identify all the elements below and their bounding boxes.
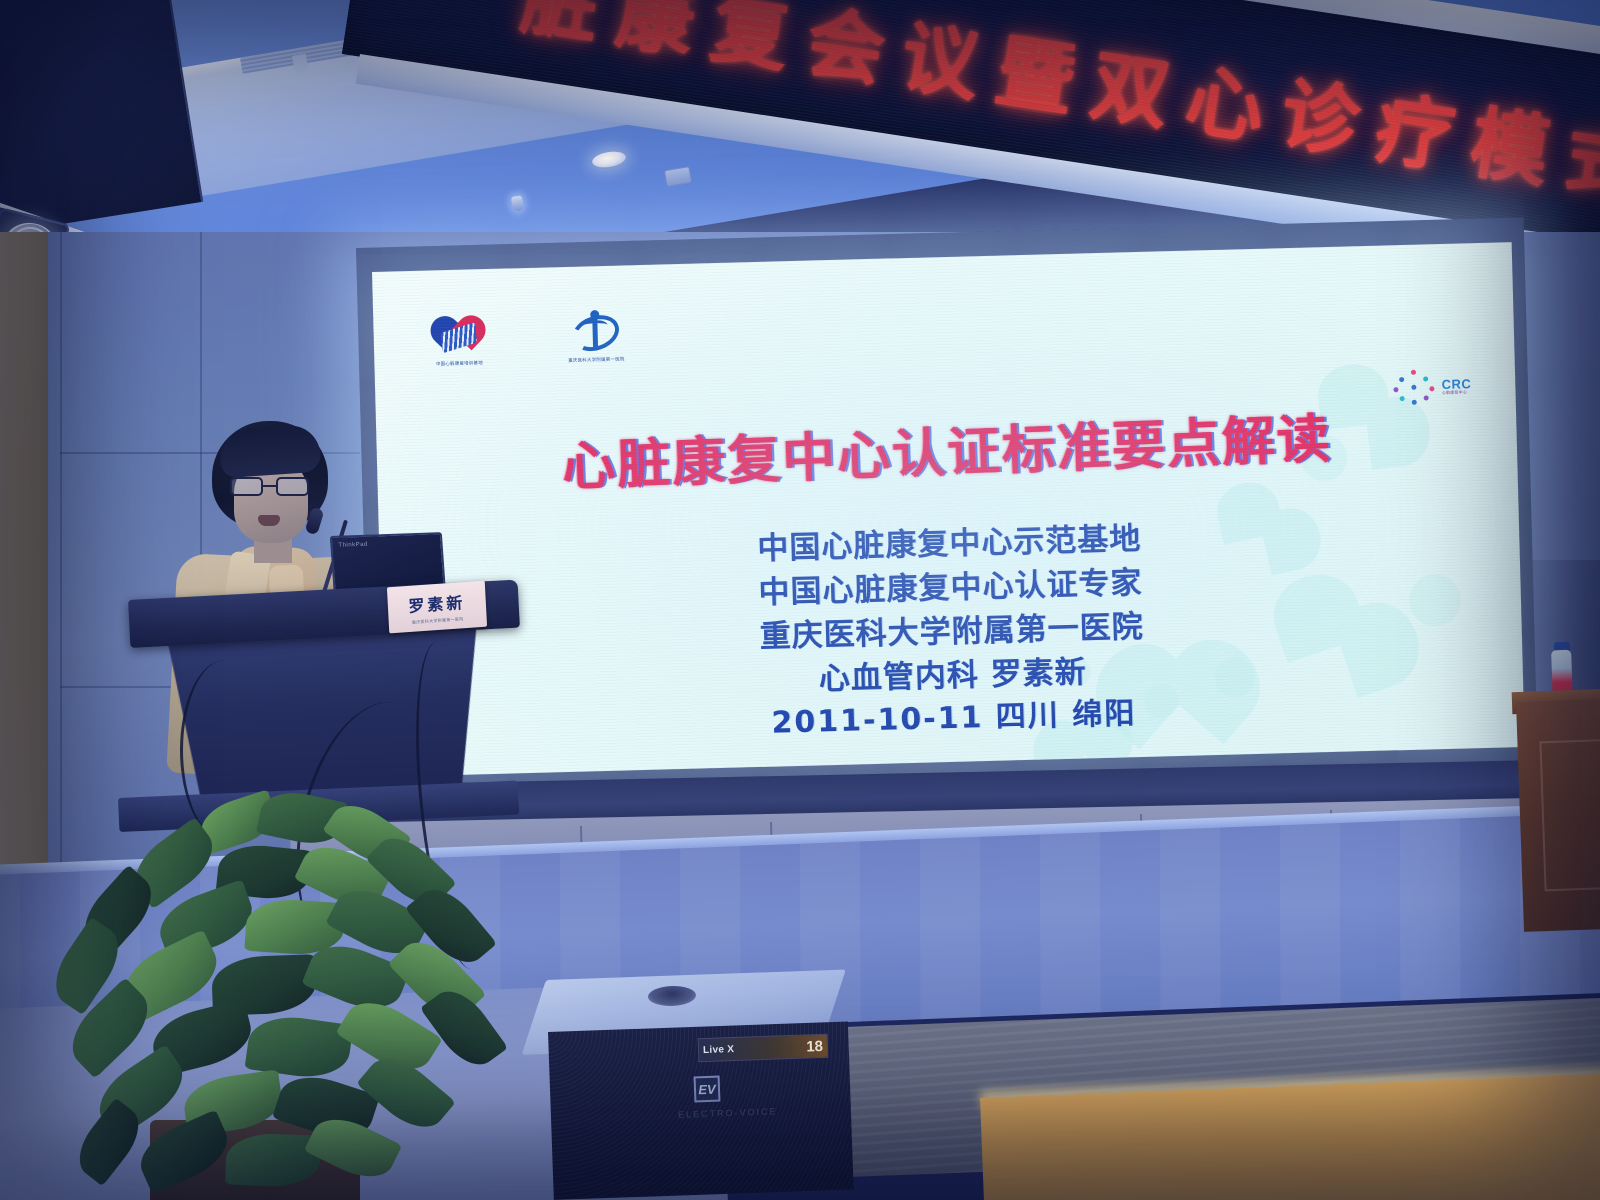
medical-institute-logo: 重庆医科大学附属第一医院 [559, 311, 632, 364]
hair-fringe [218, 424, 321, 479]
lectern-front-panel [1539, 739, 1600, 892]
laptop-brand-label: ThinkPad [338, 542, 368, 549]
ev-brand-icon: EV [694, 1076, 721, 1103]
lens-right [276, 477, 309, 496]
heart-icon [430, 315, 487, 358]
wall-seam [60, 232, 62, 872]
lens-left [230, 477, 263, 496]
potted-plant [10, 790, 530, 1200]
ceiling-acoustic-panel [0, 0, 203, 235]
mouth [258, 515, 280, 526]
nameplate-org: 重庆医科大学附属第一医院 [412, 616, 464, 626]
glasses-bridge [263, 485, 278, 487]
presentation-screen: 中国心脏康复培训基地 重庆医科大学附属第一医院 [372, 242, 1525, 777]
caduceus-icon [567, 311, 624, 354]
ev-badge-text: EV [698, 1081, 716, 1097]
vent-divider [292, 54, 309, 74]
heart-hands-logo: 中国心脏康复培训基地 [427, 315, 490, 368]
nameplate: 罗素新 重庆医科大学附属第一医院 [387, 581, 487, 634]
medical-logo-caption: 重庆医科大学附属第一医院 [560, 356, 632, 364]
speaker-size-label: 18 [806, 1037, 823, 1055]
eyeglasses [228, 477, 314, 497]
nameplate-name: 罗素新 [408, 589, 466, 617]
slide-logo-row: 中国心脏康复培训基地 重庆医科大学附属第一医院 [427, 311, 632, 368]
slide-title: 心脏康复中心认证标准要点解读 [376, 390, 1518, 508]
conference-stage-photo: 脏康复会议暨双心诊疗模式在 中国心脏康复培训基 [0, 0, 1600, 1200]
heart-logo-caption: 中国心脏康复培训基地 [428, 360, 490, 368]
speaker-model-label: Live X 18 [698, 1034, 829, 1063]
slide-subtitle-block: 中国心脏康复中心示范基地 中国心脏康复中心认证专家 重庆医科大学附属第一医院 心… [379, 507, 1524, 755]
speaker-model-name: Live X [703, 1044, 735, 1056]
